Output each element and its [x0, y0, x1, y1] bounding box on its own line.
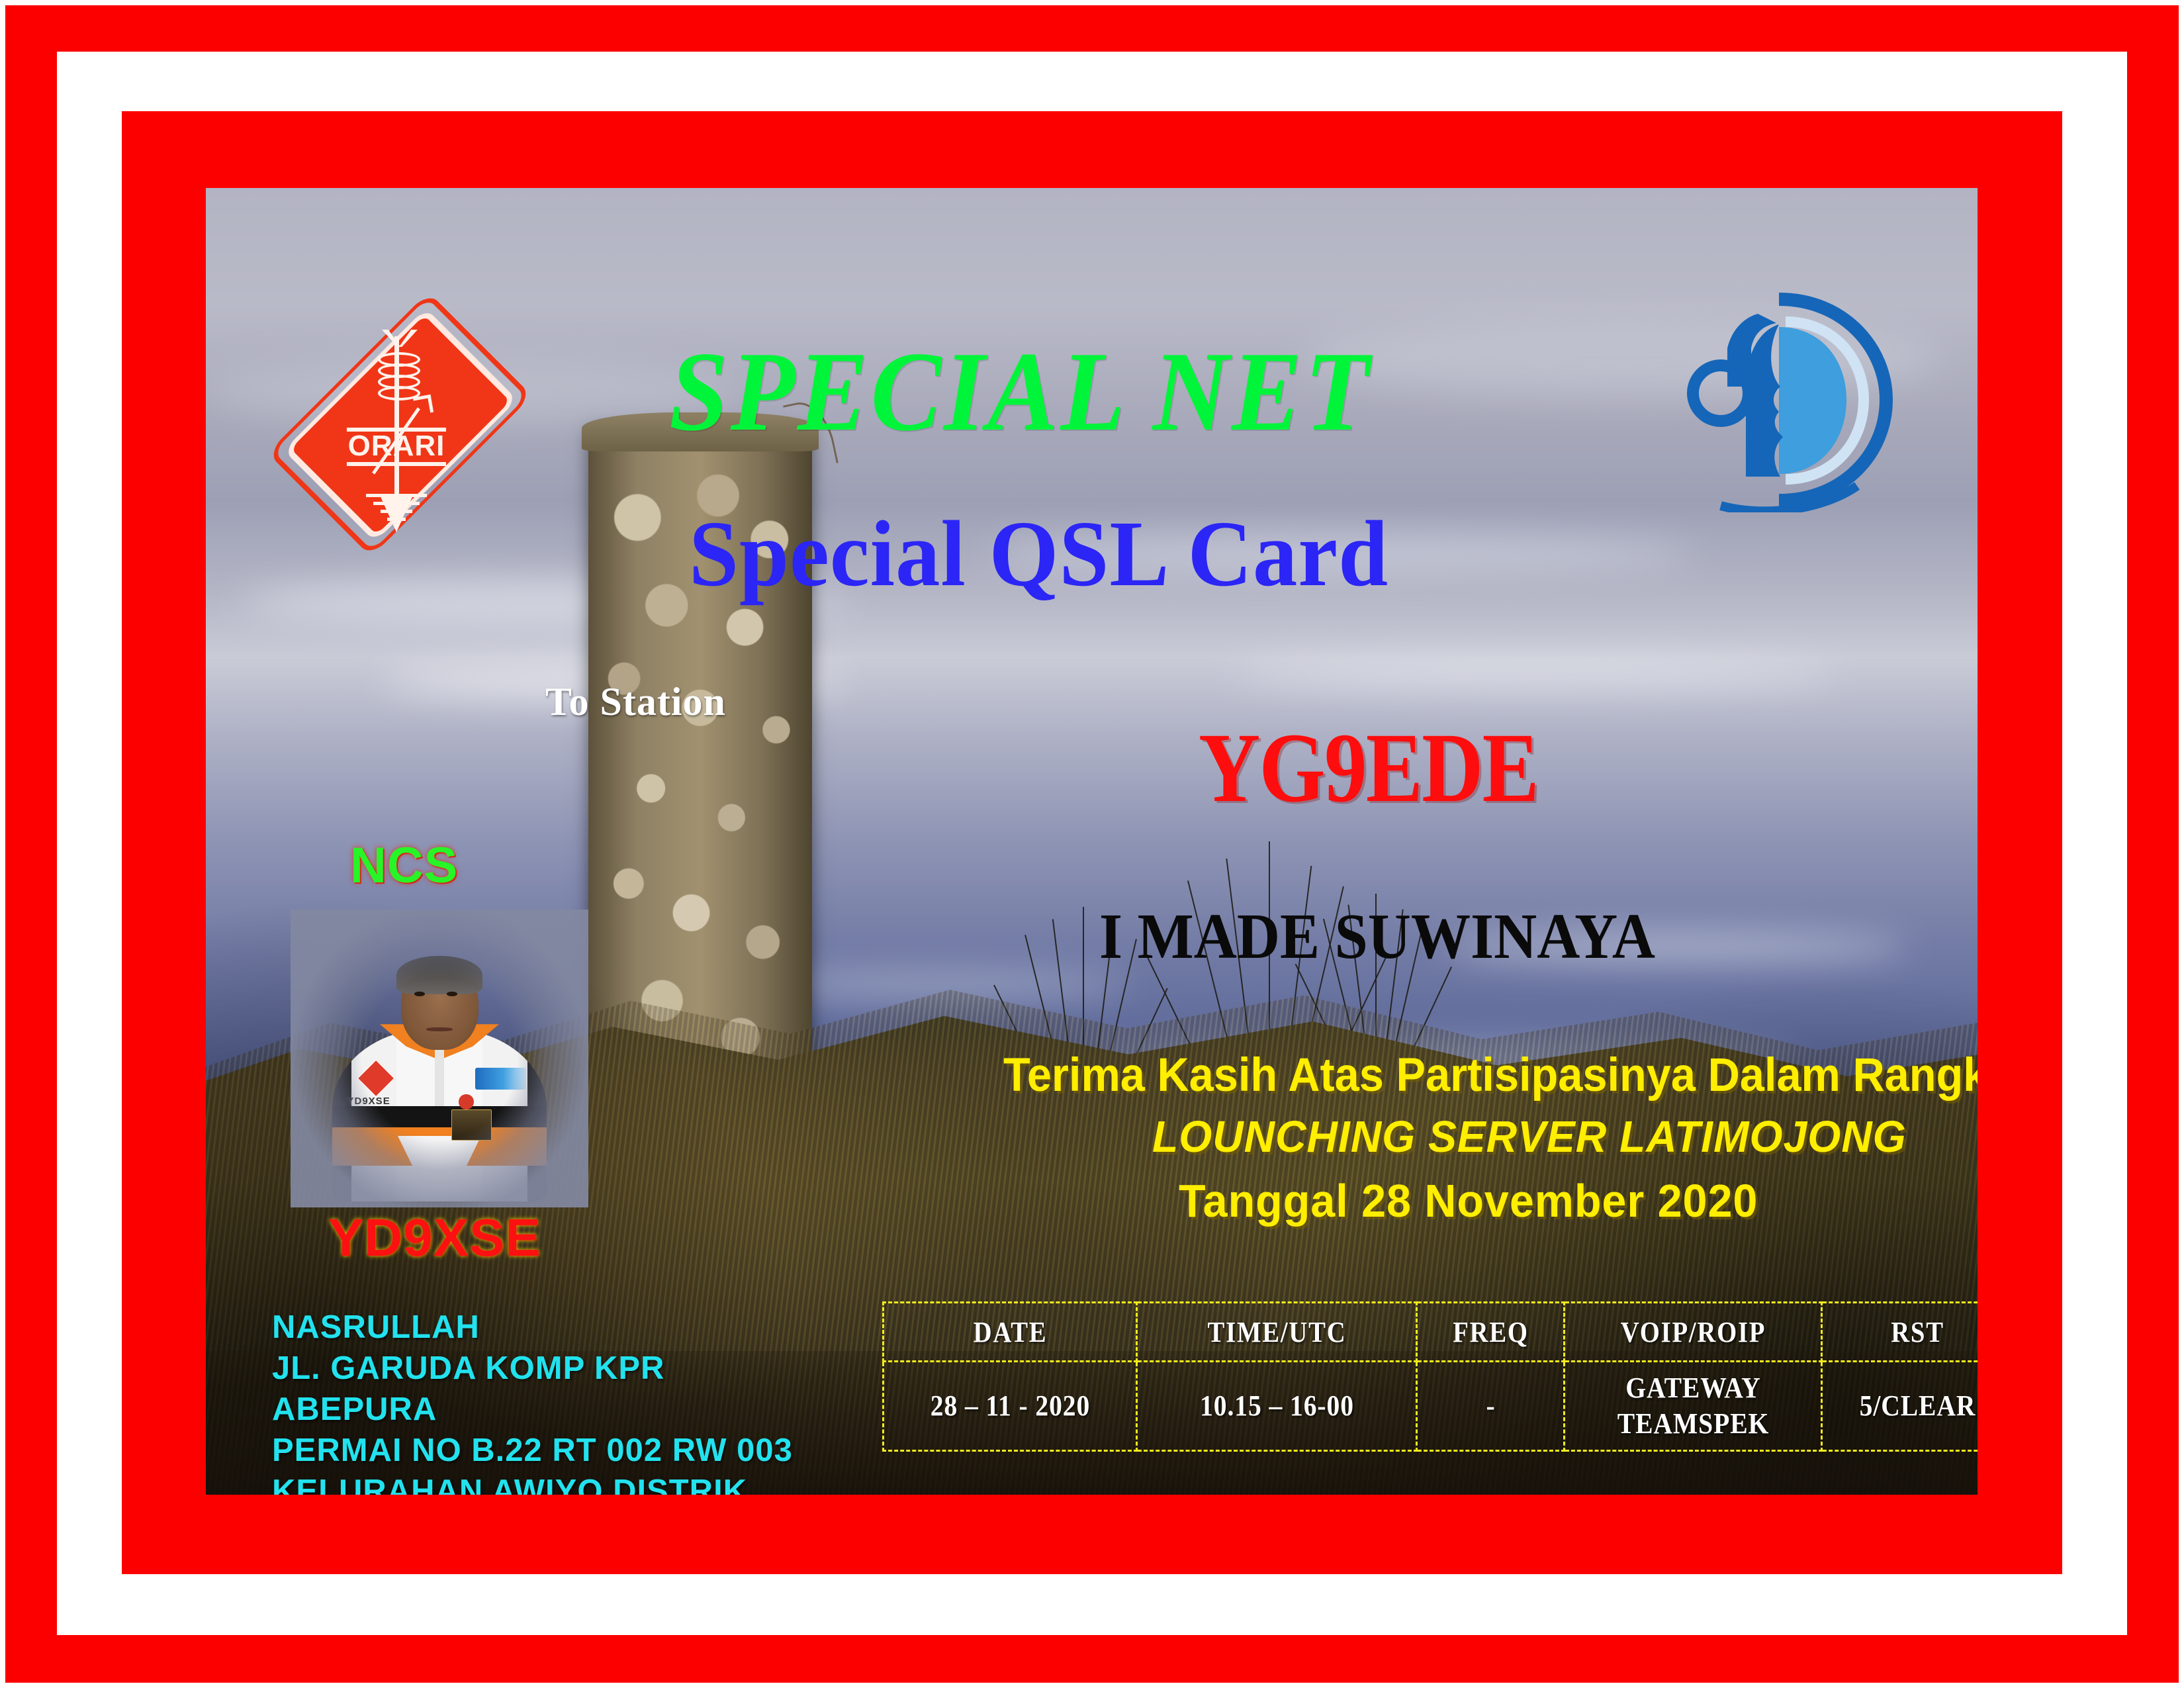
- cell-voip-line2: TEAMSPEK: [1578, 1406, 1807, 1442]
- column-header-time: TIME/UTC: [1154, 1303, 1400, 1362]
- address-line: JL. GARUDA KOMP KPR: [272, 1348, 793, 1389]
- subtitle-special-qsl-card: Special QSL Card: [689, 499, 1388, 608]
- orari-logo: ORARI: [307, 295, 486, 547]
- column-header-freq: FREQ: [1426, 1303, 1555, 1362]
- outer-red-border: ORARI SPECIAL NET Special QSL Card: [5, 5, 2179, 1683]
- cell-rst: 5/CLEAR: [1831, 1362, 1978, 1451]
- return-address-block: NASRULLAH JL. GARUDA KOMP KPR ABEPURA PE…: [272, 1307, 793, 1495]
- qso-log-table: DATE TIME/UTC FREQ VOIP/ROIP RST MODE 28…: [882, 1301, 1978, 1452]
- cell-time: 10.15 – 16-00: [1151, 1362, 1403, 1451]
- ncs-callsign: YD9XSE: [328, 1207, 541, 1268]
- column-header-rst: RST: [1833, 1303, 1978, 1362]
- ncs-operator-avatar: YD9XSE: [291, 910, 588, 1207]
- arrow-icon: [413, 395, 433, 415]
- avatar-vignette: [291, 910, 588, 1207]
- cell-voip-line1: GATEWAY: [1578, 1370, 1807, 1406]
- column-header-date: DATE: [898, 1303, 1121, 1362]
- operator-name: I MADE SUWINAYA: [1099, 900, 1655, 974]
- background-photo: ORARI SPECIAL NET Special QSL Card: [206, 188, 1978, 1495]
- cell-voip: GATEWAY TEAMSPEK: [1577, 1362, 1809, 1451]
- event-date-line: Tanggal 28 November 2020: [1179, 1174, 1758, 1227]
- thanks-line: Terima Kasih Atas Partisipasinya Dalam R…: [1003, 1049, 1978, 1102]
- orari-bar-bottom: [347, 462, 446, 466]
- orari-wordmark: ORARI: [307, 430, 486, 462]
- headset-profile-icon: [1680, 287, 1898, 512]
- to-station-label: To Station: [545, 679, 726, 725]
- white-border-gap: ORARI SPECIAL NET Special QSL Card: [57, 52, 2127, 1635]
- address-line: KELURAHAN AWIYO DISTRIK: [272, 1471, 793, 1495]
- page-title-special-net: SPECIAL NET: [669, 327, 1372, 457]
- table-row: 28 – 11 - 2020 10.15 – 16-00 - GATEWAY T…: [884, 1362, 1978, 1451]
- column-header-voip: VOIP/ROIP: [1580, 1303, 1806, 1362]
- address-line: NASRULLAH: [272, 1307, 793, 1348]
- address-line: ABEPURA: [272, 1389, 793, 1430]
- station-callsign: YG9EDE: [1199, 711, 1538, 825]
- event-line: LOUNCHING SERVER LATIMOJONG: [1152, 1111, 1907, 1162]
- orari-triangle: [379, 494, 414, 532]
- ncs-label: NCS: [350, 837, 458, 894]
- table-header-row: DATE TIME/UTC FREQ VOIP/ROIP RST MODE: [884, 1303, 1978, 1362]
- inner-red-border: ORARI SPECIAL NET Special QSL Card: [122, 111, 2062, 1574]
- cell-freq: -: [1424, 1362, 1557, 1451]
- qsl-card: ORARI SPECIAL NET Special QSL Card: [0, 0, 2184, 1688]
- cell-date: 28 – 11 - 2020: [896, 1362, 1124, 1451]
- antenna-coil-icon: [378, 352, 415, 404]
- cloud-streak: [1234, 659, 1836, 690]
- address-line: PERMAI NO B.22 RT 002 RW 003: [272, 1430, 793, 1471]
